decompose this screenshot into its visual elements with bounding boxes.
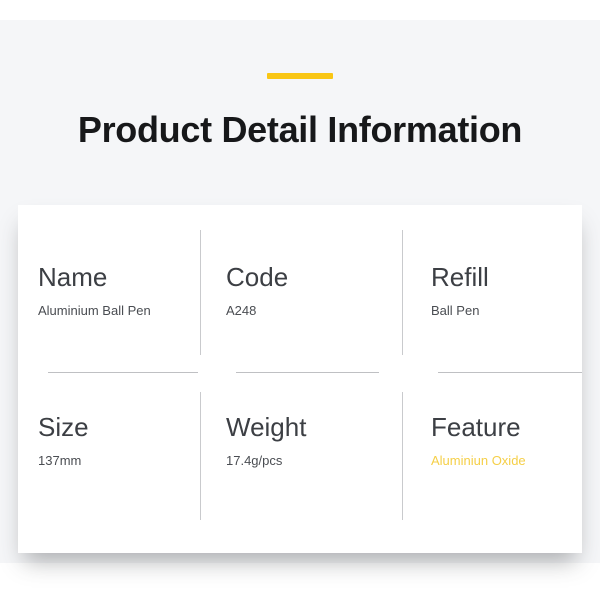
vertical-divider-row2-right [402, 392, 403, 520]
vertical-divider-row1-right [402, 230, 403, 355]
detail-value-code: A248 [226, 303, 288, 319]
vertical-divider-row2-left [200, 392, 201, 520]
detail-value-feature: Aluminiun Oxide [431, 453, 526, 469]
product-detail-card: Name Aluminium Ball Pen Code A248 Refill… [18, 205, 582, 553]
detail-label-code: Code [226, 263, 288, 292]
detail-value-weight: 17.4g/pcs [226, 453, 306, 469]
detail-cell-feature: Feature Aluminiun Oxide [431, 413, 526, 468]
detail-label-size: Size [38, 413, 89, 442]
page-title: Product Detail Information [0, 108, 600, 151]
detail-cell-weight: Weight 17.4g/pcs [226, 413, 306, 468]
detail-cell-name: Name Aluminium Ball Pen [38, 263, 151, 318]
detail-grid: Name Aluminium Ball Pen Code A248 Refill… [18, 205, 582, 553]
horizontal-divider-column2 [236, 372, 379, 373]
detail-value-name: Aluminium Ball Pen [38, 303, 151, 319]
detail-cell-code: Code A248 [226, 263, 288, 318]
horizontal-divider-column1 [48, 372, 198, 373]
product-detail-page: Product Detail Information Name Aluminiu… [0, 0, 600, 600]
detail-cell-size: Size 137mm [38, 413, 89, 468]
vertical-divider-row1-left [200, 230, 201, 355]
detail-label-refill: Refill [431, 263, 489, 292]
detail-label-feature: Feature [431, 413, 526, 442]
detail-value-size: 137mm [38, 453, 89, 469]
horizontal-divider-column3 [438, 372, 582, 373]
detail-label-weight: Weight [226, 413, 306, 442]
detail-cell-refill: Refill Ball Pen [431, 263, 489, 318]
title-accent-bar [267, 73, 333, 79]
banner-section: Product Detail Information Name Aluminiu… [0, 20, 600, 563]
detail-label-name: Name [38, 263, 151, 292]
detail-value-refill: Ball Pen [431, 303, 489, 319]
